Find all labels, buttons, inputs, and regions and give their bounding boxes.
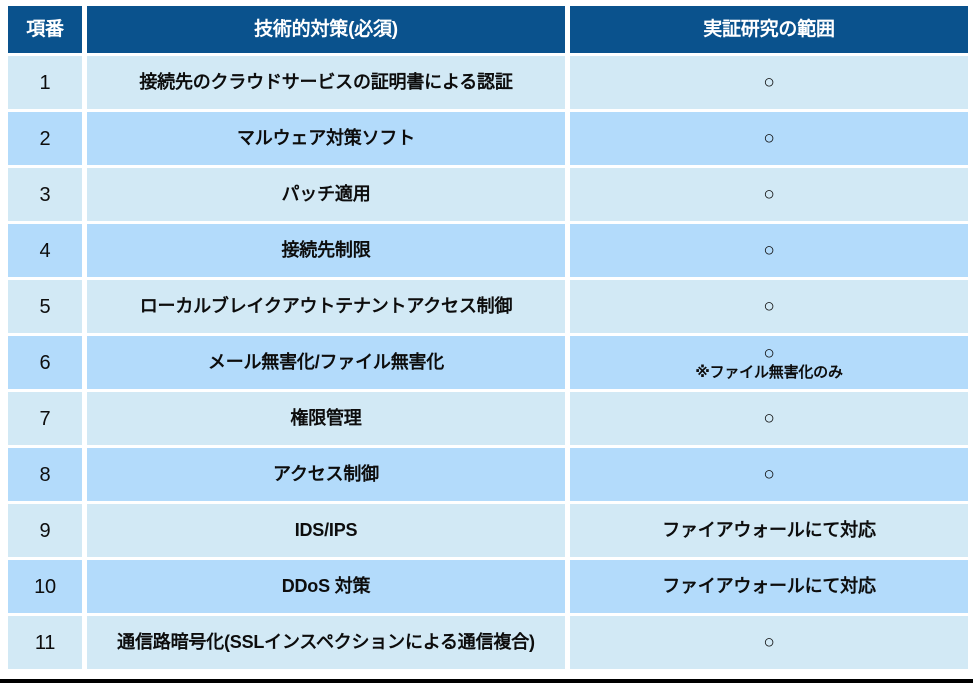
table-row: 3パッチ適用○ [8, 168, 968, 221]
cell-study-scope: ○ [570, 168, 968, 221]
cell-technical-measure: マルウェア対策ソフト [87, 112, 565, 165]
technical-measures-table: 項番 技術的対策(必須) 実証研究の範囲 1接続先のクラウドサービスの証明書によ… [3, 3, 973, 672]
cell-technical-measure: 通信路暗号化(SSLインスペクションによる通信複合) [87, 616, 565, 669]
circle-mark-icon: ○ [576, 296, 962, 318]
table-row: 11通信路暗号化(SSLインスペクションによる通信複合)○ [8, 616, 968, 669]
table-row: 6メール無害化/ファイル無害化○※ファイル無害化のみ [8, 336, 968, 389]
table-row: 2マルウェア対策ソフト○ [8, 112, 968, 165]
cell-technical-measure: 接続先のクラウドサービスの証明書による認証 [87, 56, 565, 109]
cell-study-scope: ○ [570, 112, 968, 165]
cell-technical-measure: 接続先制限 [87, 224, 565, 277]
cell-technical-measure: DDoS 対策 [87, 560, 565, 613]
circle-mark-icon: ○ [576, 408, 962, 430]
cell-study-scope: ○ [570, 448, 968, 501]
cell-item-number: 1 [8, 56, 82, 109]
table-body: 1接続先のクラウドサービスの証明書による認証○2マルウェア対策ソフト○3パッチ適… [8, 56, 968, 669]
cell-item-number: 10 [8, 560, 82, 613]
column-header-measure: 技術的対策(必須) [87, 6, 565, 53]
circle-mark-icon: ○ [576, 128, 962, 150]
table-row: 1接続先のクラウドサービスの証明書による認証○ [8, 56, 968, 109]
cell-technical-measure: 権限管理 [87, 392, 565, 445]
cell-item-number: 6 [8, 336, 82, 389]
cell-technical-measure: IDS/IPS [87, 504, 565, 557]
table-row: 7権限管理○ [8, 392, 968, 445]
cell-item-number: 5 [8, 280, 82, 333]
circle-mark-icon: ○ [763, 343, 774, 365]
table-row: 9IDS/IPSファイアウォールにて対応 [8, 504, 968, 557]
table-row: 8アクセス制御○ [8, 448, 968, 501]
circle-mark-icon: ○ [576, 184, 962, 206]
table-header-row: 項番 技術的対策(必須) 実証研究の範囲 [8, 6, 968, 53]
cell-study-scope: ファイアウォールにて対応 [570, 504, 968, 557]
cell-item-number: 9 [8, 504, 82, 557]
table-header: 項番 技術的対策(必須) 実証研究の範囲 [8, 6, 968, 53]
circle-mark-icon: ○ [576, 464, 962, 486]
scope-note: ※ファイル無害化のみ [695, 364, 843, 382]
column-header-no: 項番 [8, 6, 82, 53]
cell-study-scope: ファイアウォールにて対応 [570, 560, 968, 613]
cell-study-scope: ○ [570, 56, 968, 109]
cell-item-number: 7 [8, 392, 82, 445]
table-row: 10DDoS 対策ファイアウォールにて対応 [8, 560, 968, 613]
cell-item-number: 8 [8, 448, 82, 501]
circle-mark-icon: ○ [576, 72, 962, 94]
scope-text: ファイアウォールにて対応 [662, 520, 876, 540]
table-row: 4接続先制限○ [8, 224, 968, 277]
cell-technical-measure: ローカルブレイクアウトテナントアクセス制御 [87, 280, 565, 333]
cell-item-number: 2 [8, 112, 82, 165]
cell-technical-measure: メール無害化/ファイル無害化 [87, 336, 565, 389]
cell-study-scope: ○ [570, 392, 968, 445]
cell-study-scope: ○ [570, 224, 968, 277]
column-header-scope: 実証研究の範囲 [570, 6, 968, 53]
cell-item-number: 4 [8, 224, 82, 277]
document-sheet: 項番 技術的対策(必須) 実証研究の範囲 1接続先のクラウドサービスの証明書によ… [0, 0, 973, 683]
circle-mark-icon: ○ [576, 240, 962, 262]
cell-item-number: 3 [8, 168, 82, 221]
table-row: 5ローカルブレイクアウトテナントアクセス制御○ [8, 280, 968, 333]
cell-study-scope: ○ [570, 280, 968, 333]
cell-study-scope: ○ [570, 616, 968, 669]
cell-technical-measure: パッチ適用 [87, 168, 565, 221]
scope-text: ファイアウォールにて対応 [662, 576, 876, 596]
cell-study-scope: ○※ファイル無害化のみ [570, 336, 968, 389]
scope-stack: ○※ファイル無害化のみ [576, 343, 962, 382]
cell-item-number: 11 [8, 616, 82, 669]
cell-technical-measure: アクセス制御 [87, 448, 565, 501]
circle-mark-icon: ○ [576, 632, 962, 654]
